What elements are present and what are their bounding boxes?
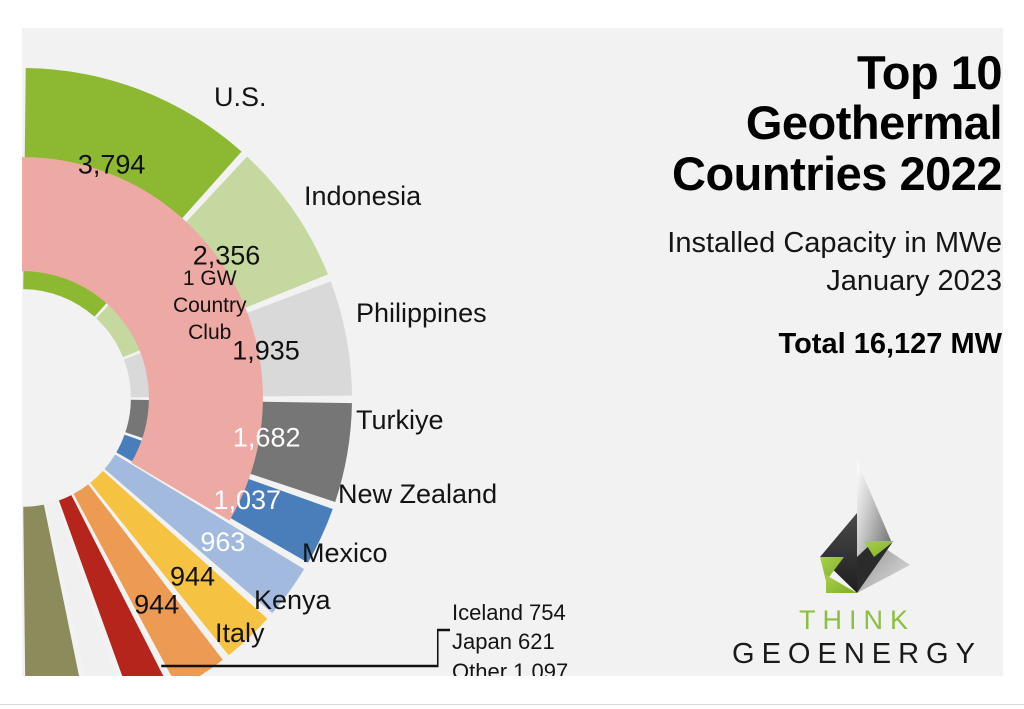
country-label-mexico: Mexico [302,540,388,567]
footnote-line-iceland: Iceland 754 [452,598,568,627]
logo-dark-left [820,513,857,593]
country-label-indonesia: Indonesia [304,183,421,210]
club-label-line-1: 1 GW [183,267,237,290]
slice-value-philippines: 1,935 [232,336,300,366]
club-label-line-3: Club [188,321,231,344]
title-line-3: Countries 2022 [542,149,1002,199]
page-title: Top 10 Geothermal Countries 2022 [542,48,1002,199]
club-label-line-2: Country [173,294,247,317]
slice-value-mexico: 963 [200,527,245,557]
slice-value-italy: 944 [134,590,179,620]
right-text-panel: Top 10 Geothermal Countries 2022 Install… [542,48,1002,361]
country-label-kenya: Kenya [254,587,331,614]
title-line-2: Geothermal [542,98,1002,148]
logo-wordmark-geoenergy: GEOENERGY [712,638,1002,671]
total-capacity-label: Total 16,127 MW [542,328,1002,361]
infographic-root: 3,7942,3561,9351,6821,037963944944 1 GWC… [0,0,1024,709]
country-label-u-s-: U.S. [214,84,267,111]
footnote-leader-line [160,620,450,670]
slice-value-u-s-: 3,794 [78,150,146,180]
thinkgeoenergy-logo: THINK GEOENERGY [712,453,1002,671]
footnote-other-countries: Iceland 754 Japan 621 Other 1,097 [452,598,568,676]
country-label-new-zealand: New Zealand [338,481,497,508]
title-line-1: Top 10 [542,48,1002,98]
country-label-turkiye: Turkiye [356,407,444,434]
slide-canvas: 3,7942,3561,9351,6821,037963944944 1 GWC… [22,28,1003,676]
country-label-philippines: Philippines [356,300,487,327]
bottom-divider [0,704,1024,705]
logo-mark-icon [782,453,932,603]
logo-wordmark-think: THINK [712,605,1002,636]
footnote-line-japan: Japan 621 [452,627,568,656]
page-subtitle: Installed Capacity in MWe January 2023 [542,225,1002,300]
leader-polyline [161,630,450,666]
footnote-line-other: Other 1,097 [452,657,568,677]
slice-value-new-zealand: 1,037 [214,485,282,515]
slice-value-turkiye: 1,682 [233,423,301,453]
slice-value-kenya: 944 [170,561,215,591]
subtitle-line-2: January 2023 [542,263,1002,301]
subtitle-line-1: Installed Capacity in MWe [542,225,1002,263]
